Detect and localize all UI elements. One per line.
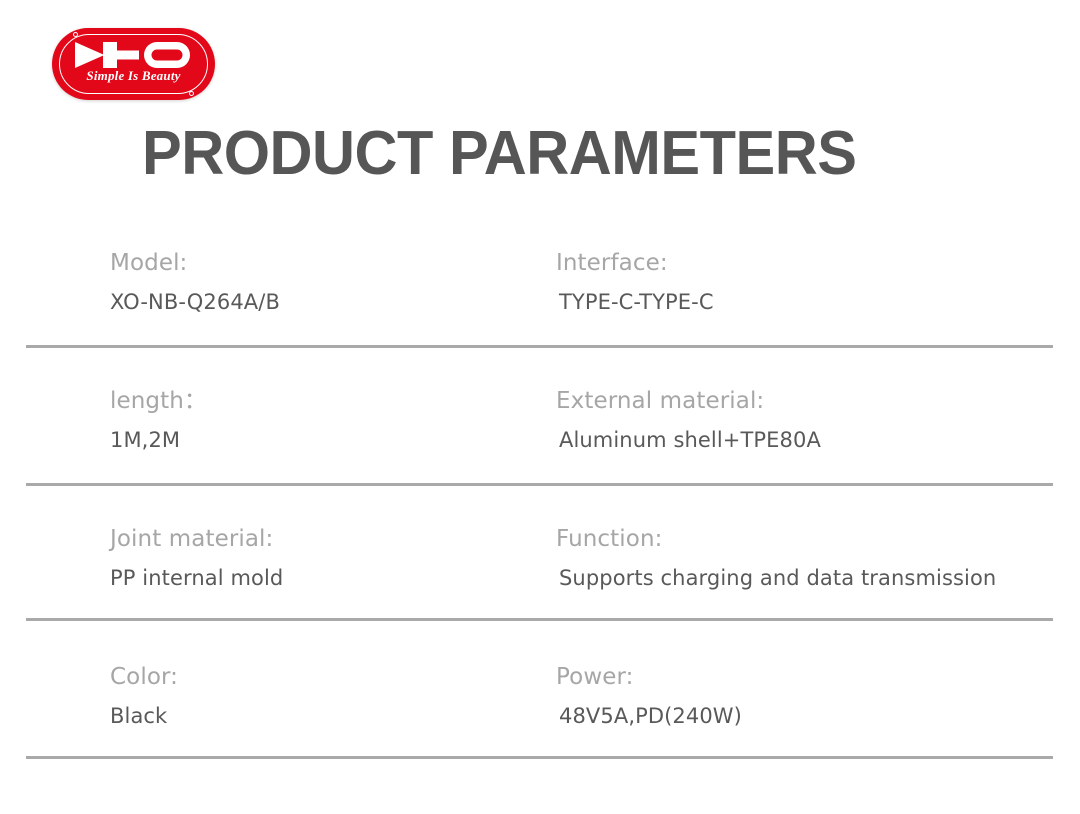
spec-cell-joint-material: Joint material: PP internal mold	[110, 524, 550, 592]
spec-value: Aluminum shell+TPE80A	[559, 426, 1076, 454]
logo-dot-top-left	[73, 32, 78, 37]
spec-cell-color: Color: Black	[110, 662, 550, 730]
spec-value: Supports charging and data transmission	[559, 564, 1076, 592]
brand-logo: Simple Is Beauty	[52, 28, 215, 100]
spec-value: 1M,2M	[110, 426, 550, 454]
spec-label: Model:	[110, 248, 550, 278]
spec-label: Joint material:	[110, 524, 550, 554]
spec-row: Model: XO-NB-Q264A/B Interface: TYPE-C-T…	[0, 236, 1080, 374]
spec-value: TYPE-C-TYPE-C	[559, 288, 1076, 316]
spec-value: Black	[110, 702, 550, 730]
spec-cell-power: Power: 48V5A,PD(240W)	[556, 662, 1076, 730]
spec-cell-external-material: External material: Aluminum shell+TPE80A	[556, 386, 1076, 454]
spec-label: Function:	[556, 524, 1076, 554]
spec-value: XO-NB-Q264A/B	[110, 288, 550, 316]
spec-value: PP internal mold	[110, 564, 550, 592]
spec-label: Interface:	[556, 248, 1076, 278]
spec-label: Power:	[556, 662, 1076, 692]
spec-cell-model: Model: XO-NB-Q264A/B	[110, 248, 550, 316]
spec-divider	[26, 345, 1053, 348]
spec-label: Color:	[110, 662, 550, 692]
spec-divider	[26, 756, 1053, 759]
brand-tagline: Simple Is Beauty	[52, 68, 215, 84]
spec-divider	[26, 618, 1053, 621]
logo-dot-bottom-right	[189, 91, 194, 96]
xo-monogram-icon	[52, 41, 215, 69]
spec-divider	[26, 483, 1053, 486]
spec-cell-function: Function: Supports charging and data tra…	[556, 524, 1076, 592]
spec-label: length：	[110, 386, 550, 416]
spec-cell-length: length： 1M,2M	[110, 386, 550, 454]
spec-row: length： 1M,2M External material: Aluminu…	[0, 374, 1080, 512]
page-title: PRODUCT PARAMETERS	[142, 119, 856, 189]
spec-row: Color: Black Power: 48V5A,PD(240W)	[0, 650, 1080, 787]
spec-label: External material:	[556, 386, 1076, 416]
spec-row: Joint material: PP internal mold Functio…	[0, 512, 1080, 650]
product-parameters-table: Model: XO-NB-Q264A/B Interface: TYPE-C-T…	[0, 236, 1080, 787]
spec-cell-interface: Interface: TYPE-C-TYPE-C	[556, 248, 1076, 316]
spec-value: 48V5A,PD(240W)	[559, 702, 1076, 730]
